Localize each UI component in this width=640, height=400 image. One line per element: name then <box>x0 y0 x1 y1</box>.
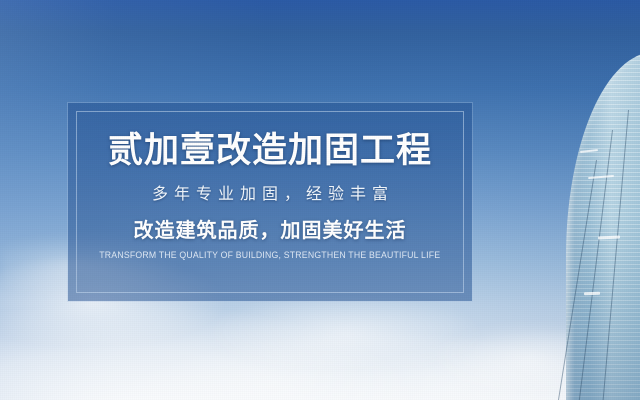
banner-subline: 多年专业加固，经验丰富 <box>146 187 394 203</box>
tower-edge-highlight <box>566 52 640 400</box>
banner-headline: 贰加壹改造加固工程 <box>108 133 432 168</box>
banner-tagline-english: TRANSFORM THE QUALITY OF BUILDING, STREN… <box>100 251 441 260</box>
banner-tagline: 改造建筑品质，加固美好生活 <box>134 221 407 241</box>
promotional-banner: 贰加壹改造加固工程 多年专业加固，经验丰富 改造建筑品质，加固美好生活 TRAN… <box>0 0 640 400</box>
text-overlay-panel: 贰加壹改造加固工程 多年专业加固，经验丰富 改造建筑品质，加固美好生活 TRAN… <box>68 103 472 301</box>
panel-content: 贰加壹改造加固工程 多年专业加固，经验丰富 改造建筑品质，加固美好生活 TRAN… <box>68 103 472 301</box>
skyscraper-image <box>554 0 640 400</box>
tower-glass-glint <box>584 292 600 296</box>
